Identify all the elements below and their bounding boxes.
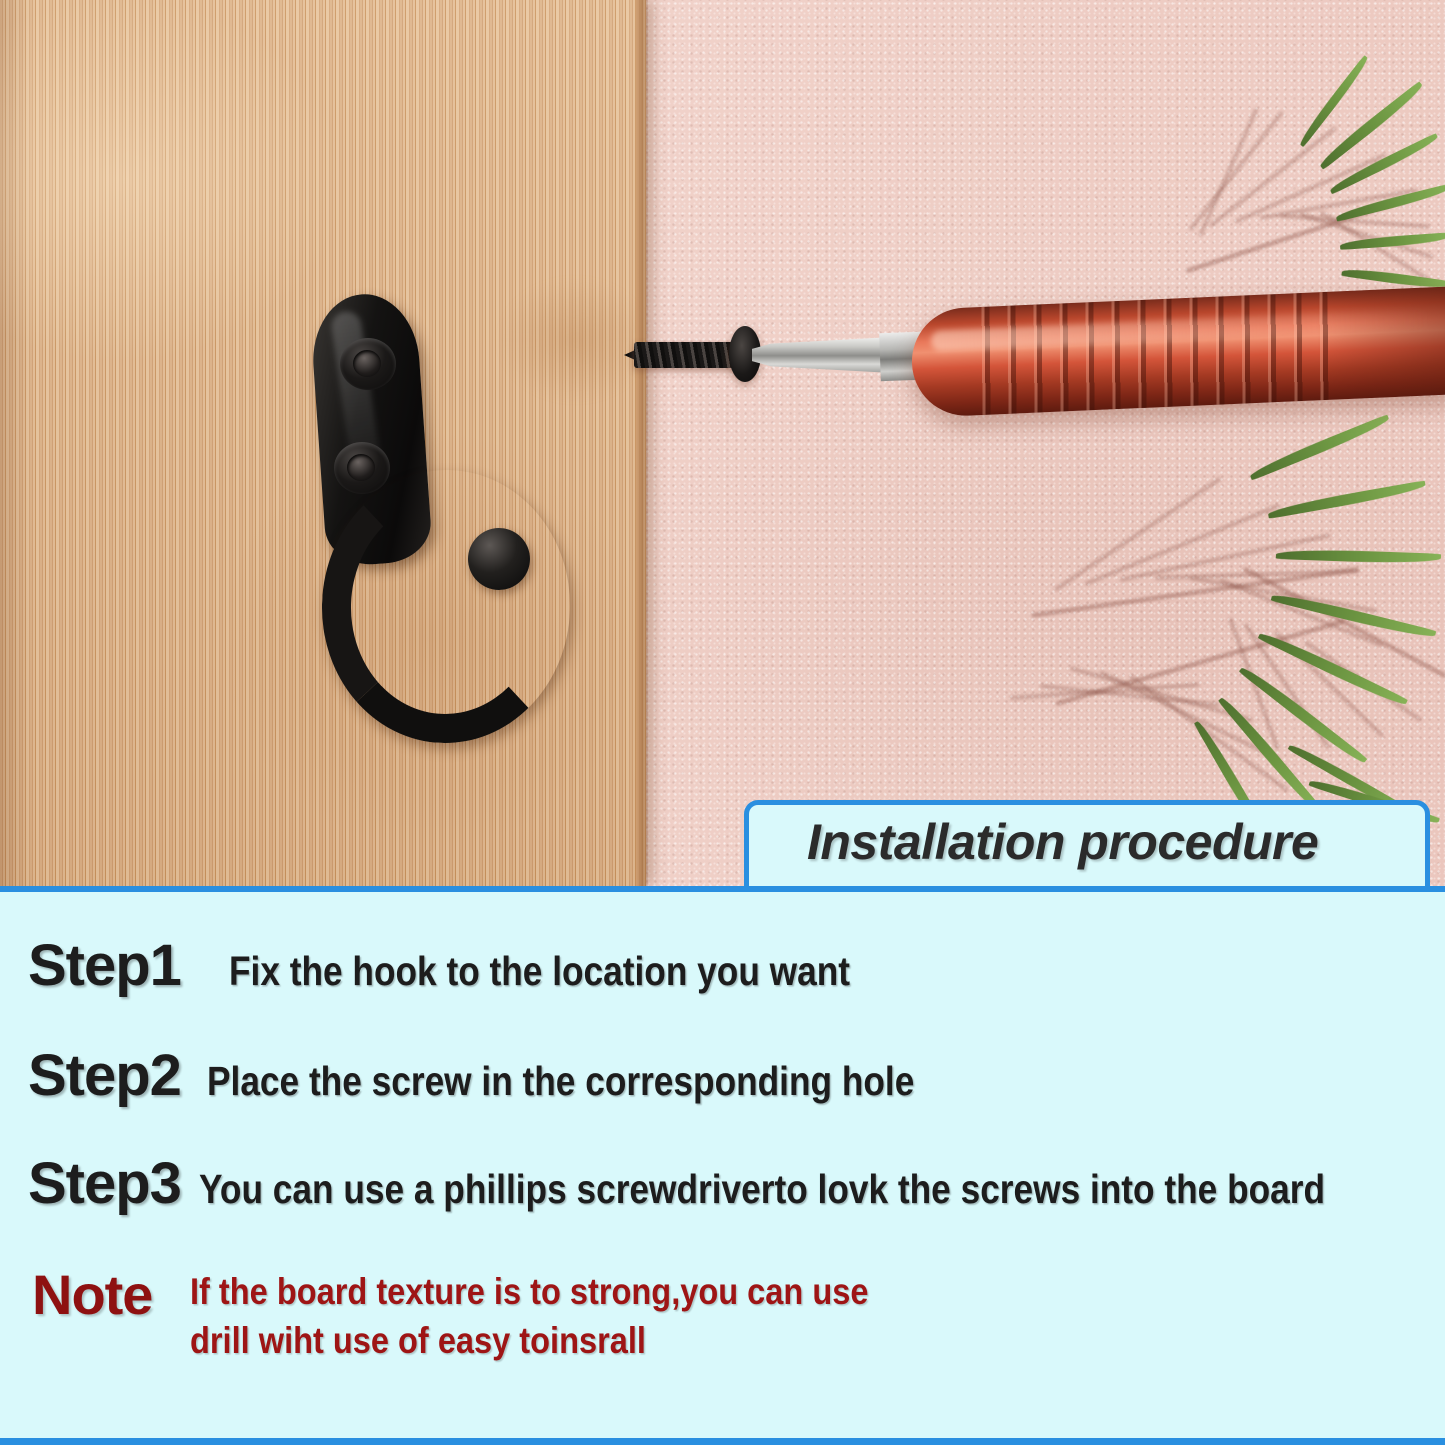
step-1-label: Step1 xyxy=(28,932,181,999)
note-label: Note xyxy=(32,1262,152,1327)
step-1-text: Fix the hook to the location you want xyxy=(229,948,850,995)
step-row-2: Step2 Place the screw in the correspondi… xyxy=(28,1042,1029,1109)
step-3-text: You can use a phillips screwdriverto lov… xyxy=(199,1166,1325,1213)
step-3-label: Step3 xyxy=(28,1150,181,1217)
board-edge xyxy=(636,0,648,886)
hook-screw-hole-bottom xyxy=(334,442,390,494)
step-2-label: Step2 xyxy=(28,1042,181,1109)
black-coat-hook xyxy=(300,290,560,710)
screwdriver-handle xyxy=(910,286,1445,418)
handle-grip-ribs xyxy=(968,292,1332,416)
step-row-1: Step1 Fix the hook to the location you w… xyxy=(28,932,951,999)
hook-ball-end xyxy=(468,528,530,590)
step-row-3: Step3 You can use a phillips screwdriver… xyxy=(28,1150,1445,1217)
instructions-panel: Step1 Fix the hook to the location you w… xyxy=(0,886,1445,1445)
installation-procedure-banner: Installation procedure xyxy=(744,800,1430,886)
step-2-text: Place the screw in the corresponding hol… xyxy=(207,1058,914,1105)
banner-title: Installation procedure xyxy=(807,813,1318,871)
note-row: Note If the board texture is to strong,y… xyxy=(32,1262,961,1366)
handle-taper xyxy=(1314,286,1445,400)
note-line-1: If the board texture is to strong,you ca… xyxy=(190,1268,868,1317)
note-line-2: drill wiht use of easy toinsrall xyxy=(190,1317,868,1366)
product-instruction-image: Installation procedure Step1 Fix the hoo… xyxy=(0,0,1445,1445)
installation-photo: Installation procedure xyxy=(0,0,1445,886)
hook-screw-hole-top xyxy=(340,338,396,390)
note-text: If the board texture is to strong,you ca… xyxy=(190,1268,961,1366)
